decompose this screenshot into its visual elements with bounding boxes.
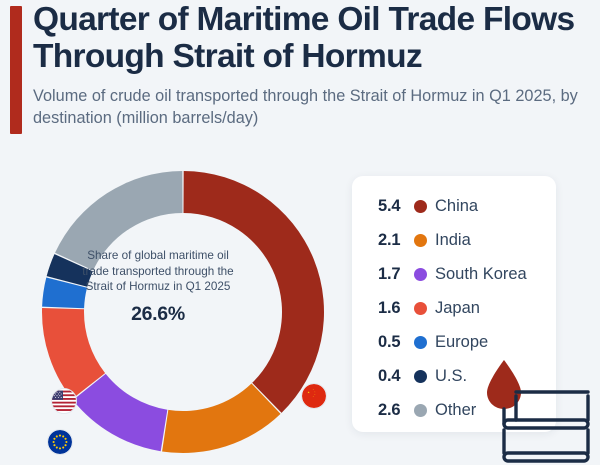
legend-label: Europe — [435, 333, 488, 352]
accent-bar — [10, 6, 22, 134]
legend-item-india[interactable]: 2.1India — [352, 223, 556, 257]
legend-item-europe[interactable]: 0.5Europe — [352, 325, 556, 359]
donut-center-text: Share of global maritime oil trade trans… — [73, 248, 243, 328]
legend-value: 0.4 — [378, 367, 414, 386]
legend-label: Other — [435, 401, 476, 420]
page-title: Quarter of Maritime Oil Trade Flows Thro… — [33, 1, 599, 75]
legend-color-swatch — [414, 336, 427, 349]
legend-value: 0.5 — [378, 333, 414, 352]
legend-value: 1.7 — [378, 265, 414, 284]
donut-chart: Share of global maritime oil trade trans… — [18, 160, 348, 465]
legend-label: India — [435, 231, 471, 250]
legend-label: Japan — [435, 299, 480, 318]
header: Quarter of Maritime Oil Trade Flows Thro… — [0, 0, 600, 140]
page-subtitle: Volume of crude oil transported through … — [33, 85, 578, 130]
legend-color-swatch — [414, 404, 427, 417]
legend-value: 2.1 — [378, 231, 414, 250]
legend-color-swatch — [414, 234, 427, 247]
legend-color-swatch — [414, 200, 427, 213]
legend-label: China — [435, 197, 478, 216]
flag-us-icon — [51, 388, 77, 414]
legend-value: 5.4 — [378, 197, 414, 216]
legend-color-swatch — [414, 268, 427, 281]
legend-item-south-korea[interactable]: 1.7South Korea — [352, 257, 556, 291]
donut-center-caption: Share of global maritime oil trade trans… — [73, 248, 243, 295]
flag-europe-icon — [47, 429, 73, 455]
legend-item-japan[interactable]: 1.6Japan — [352, 291, 556, 325]
donut-segment-india[interactable] — [162, 383, 280, 453]
donut-center-percentage: 26.6% — [73, 302, 243, 328]
legend-value: 2.6 — [378, 401, 414, 420]
legend-item-china[interactable]: 5.4China — [352, 189, 556, 223]
oil-barrel-icon — [478, 358, 600, 465]
legend-value: 1.6 — [378, 299, 414, 318]
legend-color-swatch — [414, 370, 427, 383]
legend-label: South Korea — [435, 265, 527, 284]
legend-label: U.S. — [435, 367, 467, 386]
legend-color-swatch — [414, 302, 427, 315]
flag-china-icon — [301, 383, 327, 409]
